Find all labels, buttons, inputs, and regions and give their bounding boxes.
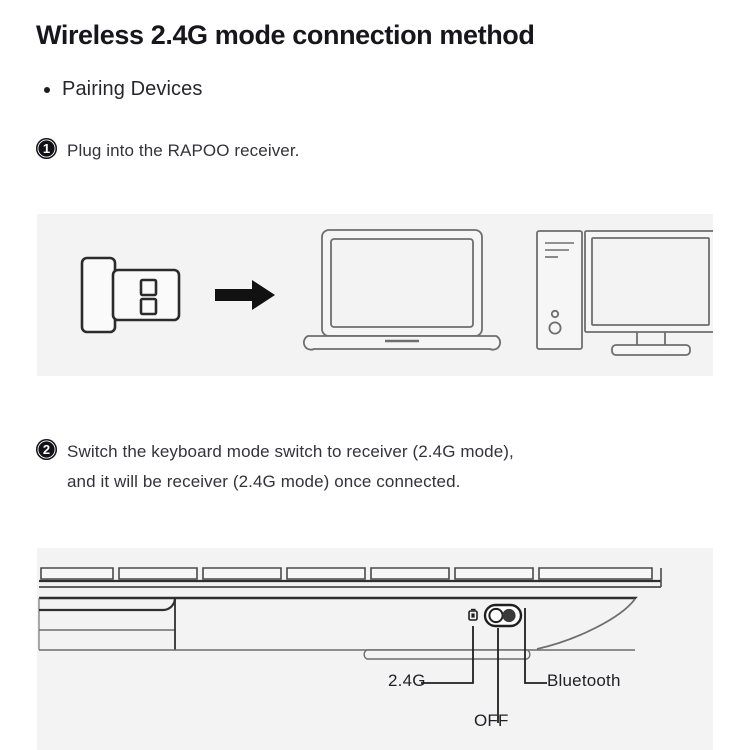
usb-receiver-icon	[82, 258, 179, 332]
callout-leader-lines	[421, 608, 547, 723]
step-2: 2 Switch the keyboard mode switch to rec…	[36, 437, 514, 497]
step-1: 1 Plug into the RAPOO receiver.	[36, 136, 300, 166]
arrow-right-icon	[215, 280, 275, 310]
monitor-icon	[585, 231, 713, 355]
callout-label-off: OFF	[474, 711, 509, 731]
desktop-tower-icon	[537, 231, 582, 349]
keyboard-keycaps	[41, 568, 652, 579]
keyboard-illustration-panel	[37, 548, 713, 750]
step-2-text: Switch the keyboard mode switch to recei…	[67, 437, 514, 497]
devices-illustration-panel	[37, 214, 713, 376]
step-1-text: Plug into the RAPOO receiver.	[67, 136, 300, 166]
step-1-number-badge: 1	[36, 138, 57, 159]
pairing-devices-label: Pairing Devices	[62, 78, 202, 101]
step-2-line-2: and it will be receiver (2.4G mode) once…	[67, 467, 514, 497]
laptop-icon	[304, 230, 500, 350]
page-title: Wireless 2.4G mode connection method	[36, 20, 534, 51]
devices-illustration-svg	[37, 214, 713, 376]
step-2-number-badge: 2	[36, 439, 57, 460]
step-1-line-1: Plug into the RAPOO receiver.	[67, 136, 300, 166]
bullet-dot-icon	[44, 87, 50, 93]
keyboard-body	[39, 598, 635, 659]
status-led-icon	[469, 610, 477, 621]
callout-label-24g: 2.4G	[388, 671, 426, 691]
step-2-line-1: Switch the keyboard mode switch to recei…	[67, 437, 514, 467]
callout-label-bluetooth: Bluetooth	[547, 671, 621, 691]
pairing-devices-bullet: Pairing Devices	[44, 78, 202, 101]
keyboard-illustration-svg	[37, 548, 713, 750]
mode-slider-switch-icon[interactable]	[485, 605, 521, 626]
